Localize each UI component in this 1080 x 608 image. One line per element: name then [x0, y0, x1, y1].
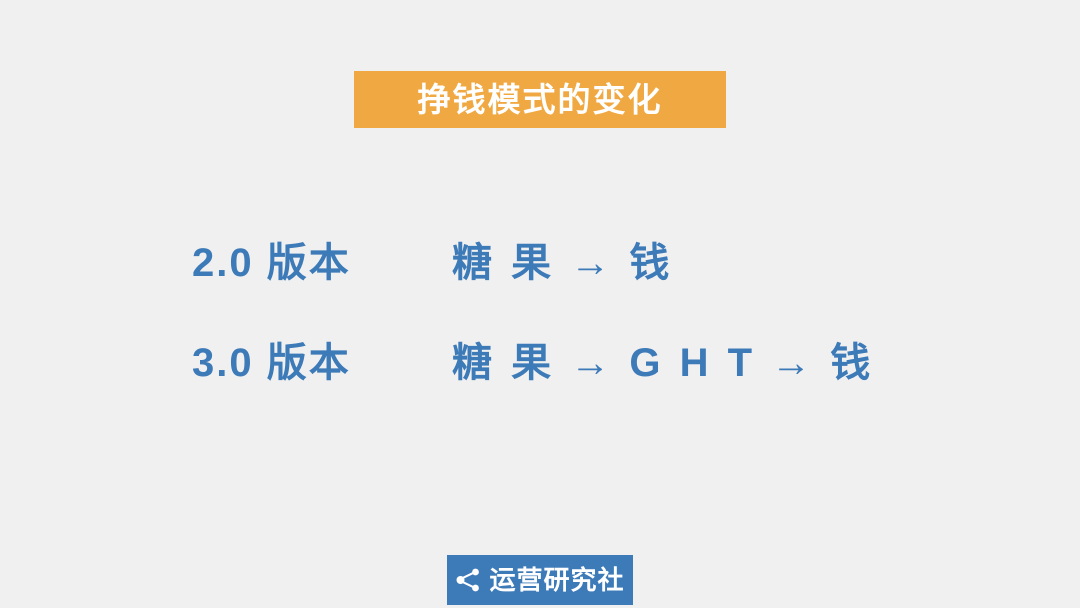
logo-text: 运营研究社 [489, 567, 624, 593]
version-label-3: 3.0 版本 [192, 330, 452, 388]
version-label-2: 2.0 版本 [192, 230, 452, 288]
logo-badge: 运营研究社 [447, 555, 633, 605]
title-banner: 挣钱模式的变化 [354, 71, 726, 128]
share-nodes-icon [455, 567, 481, 593]
flow-text-2: 糖 果 → 钱 [452, 230, 673, 288]
flow-text-3: 糖 果 → G H T → 钱 [452, 330, 874, 388]
page-title: 挣钱模式的变化 [418, 83, 663, 116]
list-item: 3.0 版本 糖 果 → G H T → 钱 [0, 330, 1080, 430]
slide-canvas: 挣钱模式的变化 2.0 版本 糖 果 → 钱 3.0 版本 糖 果 → G H … [0, 0, 1080, 608]
content-rows: 2.0 版本 糖 果 → 钱 3.0 版本 糖 果 → G H T → 钱 [0, 230, 1080, 430]
list-item: 2.0 版本 糖 果 → 钱 [0, 230, 1080, 330]
